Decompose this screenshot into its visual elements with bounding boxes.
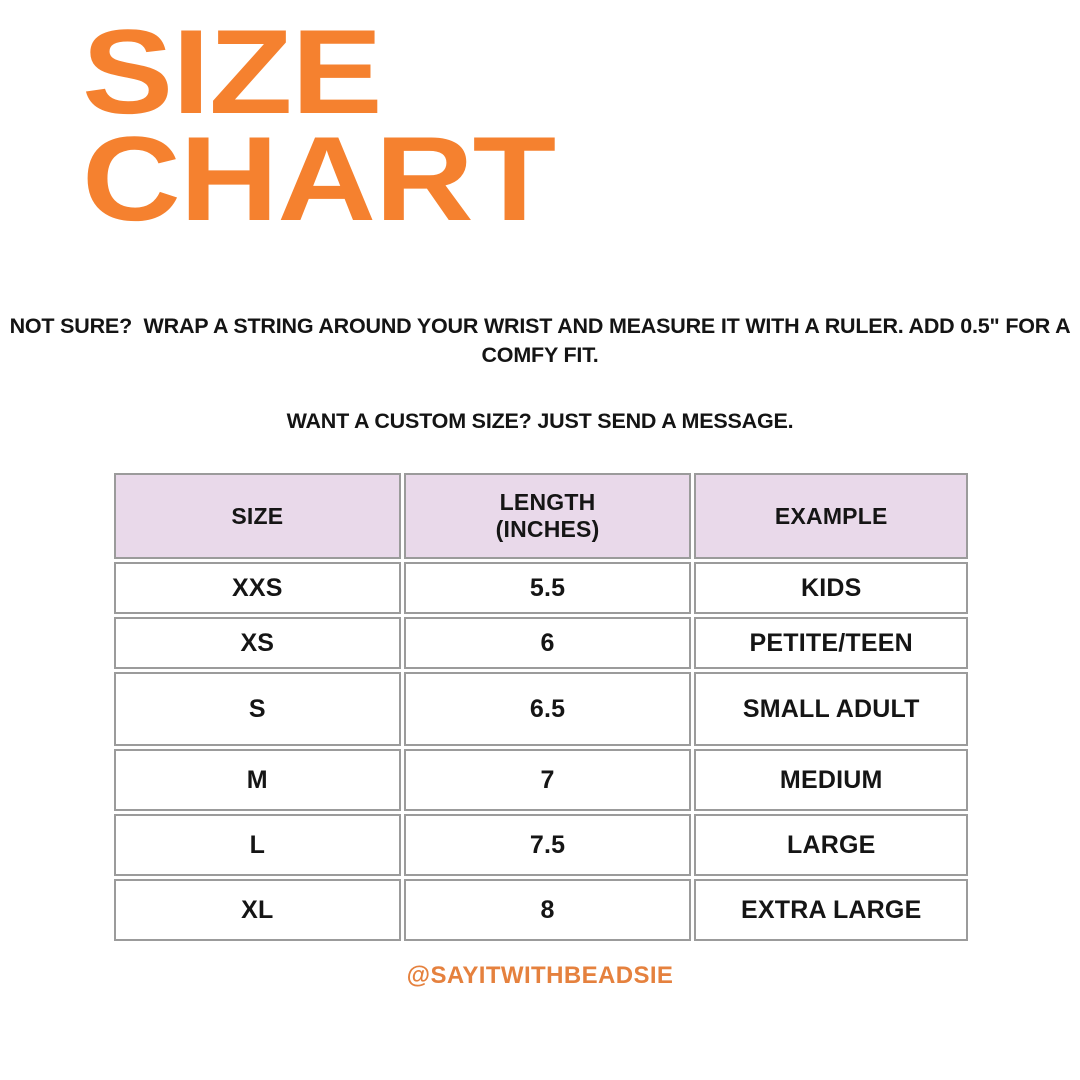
- measuring-instructions: NOT SURE? WRAP A STRING AROUND YOUR WRIS…: [0, 312, 1080, 370]
- column-header-example: EXAMPLE: [694, 473, 968, 559]
- custom-size-message: WANT A CUSTOM SIZE? JUST SEND A MESSAGE.: [0, 407, 1080, 436]
- cell-example-value: LARGE: [696, 831, 966, 860]
- table-row: XXS 5.5 KIDS: [114, 562, 968, 614]
- cell-size-value: XL: [116, 896, 399, 925]
- cell-length: 8: [404, 879, 692, 941]
- column-header-example-label: EXAMPLE: [696, 503, 966, 530]
- cell-length-value: 7.5: [406, 831, 690, 860]
- cell-size-value: XXS: [116, 574, 399, 603]
- table-row: XL 8 EXTRA LARGE: [114, 879, 968, 941]
- cell-example-value: KIDS: [696, 574, 966, 603]
- cell-length-value: 8: [406, 896, 690, 925]
- brand-handle: @SAYITWITHBEADSIE: [0, 962, 1080, 990]
- cell-length: 5.5: [404, 562, 692, 614]
- cell-example: MEDIUM: [694, 749, 968, 811]
- cell-size: L: [114, 814, 401, 876]
- table-body: XXS 5.5 KIDS XS 6 PETITE/TEEN S 6.5 SMAL…: [114, 562, 968, 941]
- table-header-row: SIZE LENGTH (INCHES) EXAMPLE: [114, 473, 968, 559]
- page-title-line-2: CHART: [82, 129, 1080, 230]
- cell-length-value: 5.5: [406, 574, 690, 603]
- page-title-line-1: SIZE: [82, 22, 1080, 123]
- cell-size: XS: [114, 617, 401, 669]
- cell-length-value: 6: [406, 629, 690, 658]
- size-chart-table: SIZE LENGTH (INCHES) EXAMPLE XXS 5.5 KID…: [111, 470, 971, 944]
- cell-size: M: [114, 749, 401, 811]
- cell-example-value: PETITE/TEEN: [696, 629, 966, 658]
- cell-example: KIDS: [694, 562, 968, 614]
- cell-example: SMALL ADULT: [694, 672, 968, 746]
- cell-size: XXS: [114, 562, 401, 614]
- column-header-length: LENGTH (INCHES): [404, 473, 692, 559]
- cell-example: PETITE/TEEN: [694, 617, 968, 669]
- cell-length: 7.5: [404, 814, 692, 876]
- column-header-length-label: LENGTH (INCHES): [406, 489, 690, 543]
- cell-example: EXTRA LARGE: [694, 879, 968, 941]
- cell-example-value: EXTRA LARGE: [696, 896, 966, 925]
- cell-size-value: XS: [116, 629, 399, 658]
- cell-example-value: SMALL ADULT: [696, 695, 966, 724]
- cell-example-value: MEDIUM: [696, 766, 966, 795]
- cell-length-value: 7: [406, 766, 690, 795]
- cell-size: S: [114, 672, 401, 746]
- cell-example: LARGE: [694, 814, 968, 876]
- cell-length: 6: [404, 617, 692, 669]
- table-row: S 6.5 SMALL ADULT: [114, 672, 968, 746]
- cell-length-value: 6.5: [406, 695, 690, 724]
- cell-size-value: M: [116, 766, 399, 795]
- table-row: L 7.5 LARGE: [114, 814, 968, 876]
- column-header-size-label: SIZE: [116, 503, 399, 530]
- table-row: XS 6 PETITE/TEEN: [114, 617, 968, 669]
- column-header-size: SIZE: [114, 473, 401, 559]
- cell-length: 6.5: [404, 672, 692, 746]
- cell-size-value: S: [116, 695, 399, 724]
- table-row: M 7 MEDIUM: [114, 749, 968, 811]
- page-title: SIZE CHART: [82, 22, 982, 230]
- intro-text-block: NOT SURE? WRAP A STRING AROUND YOUR WRIS…: [0, 312, 1080, 436]
- cell-size: XL: [114, 879, 401, 941]
- table-header: SIZE LENGTH (INCHES) EXAMPLE: [114, 473, 968, 559]
- cell-size-value: L: [116, 831, 399, 860]
- cell-length: 7: [404, 749, 692, 811]
